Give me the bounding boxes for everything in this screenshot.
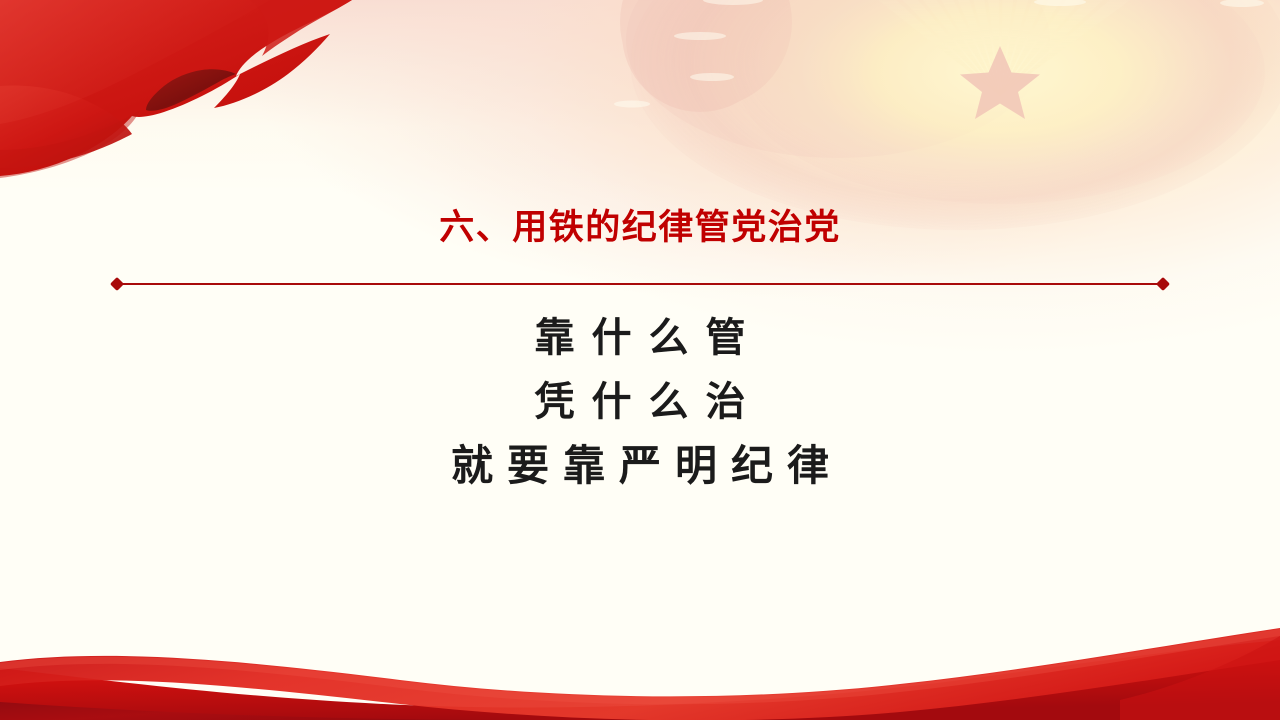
body-line-2: 凭什么治 — [0, 370, 1280, 434]
watermark-sunburst-rays — [850, 0, 1152, 96]
body-line-3: 就要靠严明纪律 — [0, 434, 1280, 500]
wave-highlight-band — [0, 628, 1280, 720]
page-title: 六、用铁的纪律管党治党 — [0, 205, 1280, 251]
watermark-star — [960, 46, 1040, 119]
watermark-outer-ring — [626, 0, 1280, 230]
flag-right-wisp — [250, 0, 352, 56]
flag-fold-shadow — [146, 69, 236, 111]
body-text-block: 靠什么管 凭什么治 就要靠严明纪律 — [0, 306, 1280, 500]
title-block: 六、用铁的纪律管党治党 — [0, 205, 1280, 251]
watermark-scallop-edge — [620, 0, 792, 112]
wave-crest — [0, 629, 1280, 704]
wave-base — [0, 640, 1280, 720]
divider-diamond-right — [1156, 277, 1170, 291]
flag-main-body — [0, 0, 352, 176]
watermark-light-streaks — [614, 0, 1264, 108]
wave-right-lift — [1120, 636, 1280, 720]
wave-shadow — [0, 702, 520, 720]
flag-sheen — [0, 0, 270, 124]
body-line-1: 靠什么管 — [0, 306, 1280, 370]
presentation-slide: 六、用铁的纪律管党治党 靠什么管 凭什么治 就要靠严明纪律 — [0, 0, 1280, 720]
watermark-medallion — [735, 0, 1265, 204]
flag-lower-lobe — [0, 86, 132, 169]
divider-line — [118, 283, 1162, 285]
divider — [112, 277, 1168, 291]
flag-bottom-fade — [0, 110, 140, 178]
